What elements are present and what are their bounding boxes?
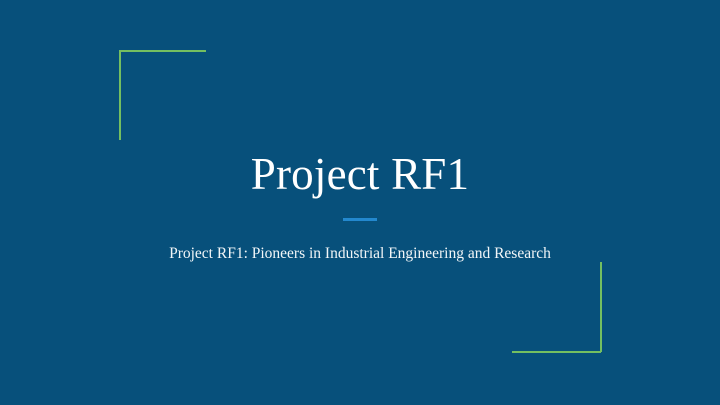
title-slide: Project RF1 Project RF1: Pioneers in Ind… — [0, 0, 720, 405]
title-divider — [343, 218, 377, 221]
slide-content: Project RF1 Project RF1: Pioneers in Ind… — [0, 0, 720, 405]
slide-title: Project RF1 — [40, 146, 680, 202]
slide-subtitle: Project RF1: Pioneers in Industrial Engi… — [160, 243, 560, 264]
